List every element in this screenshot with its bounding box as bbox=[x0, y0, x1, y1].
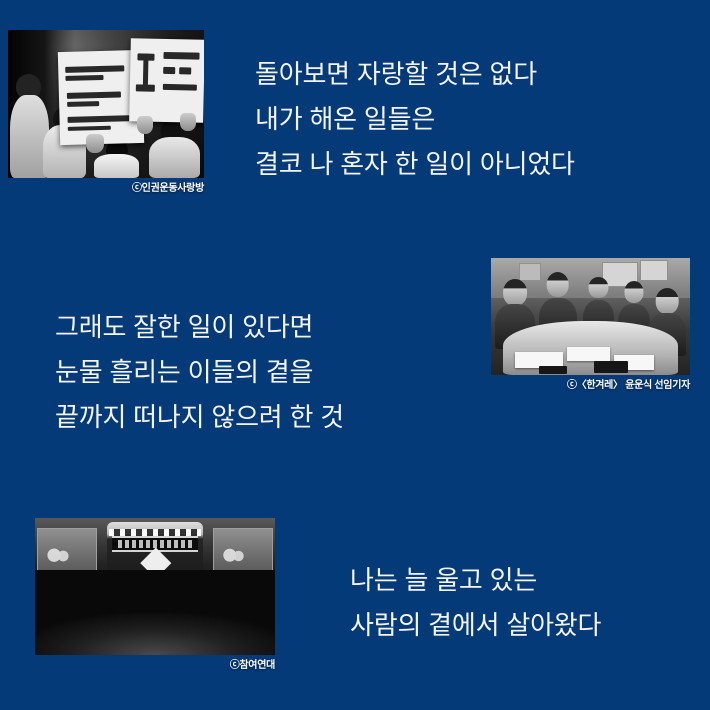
poem-line: 나는 늘 울고 있는 bbox=[350, 558, 601, 603]
table-paper bbox=[567, 347, 611, 361]
photo-block-group: ⓒ참여연대 bbox=[35, 518, 275, 655]
hand bbox=[86, 134, 104, 153]
photo-credit-group: ⓒ참여연대 bbox=[230, 656, 275, 671]
placard-right bbox=[129, 38, 204, 122]
photo-credit-meeting: ⓒ〈한겨레〉 윤운식 선임기자 bbox=[567, 376, 690, 391]
poem-line: 돌아보면 자랑할 것은 없다 bbox=[255, 52, 575, 97]
poem-line: 결코 나 혼자 한 일이 아니었다 bbox=[255, 142, 575, 187]
poem-stanza-3: 나는 늘 울고 있는 사람의 곁에서 살아왔다 bbox=[350, 558, 601, 648]
poem-line: 내가 해온 일들은 bbox=[255, 97, 575, 142]
poem-line: 눈물 흘리는 이들의 곁을 bbox=[55, 350, 344, 395]
photo-block-protest: ⓒ인권운동사랑방 bbox=[8, 30, 204, 178]
poem-card: ⓒ인권운동사랑방 bbox=[0, 0, 710, 710]
poem-line: 그래도 잘한 일이 있다면 bbox=[55, 305, 344, 350]
hand bbox=[137, 116, 153, 134]
wall-poster bbox=[640, 260, 668, 281]
photo-block-meeting: ⓒ〈한겨레〉 윤운식 선임기자 bbox=[491, 258, 690, 375]
photo-protest-scene bbox=[8, 30, 204, 178]
photo-meeting-scene bbox=[491, 258, 690, 375]
crowd-body bbox=[149, 137, 200, 178]
poem-stanza-1: 돌아보면 자랑할 것은 없다 내가 해온 일들은 결코 나 혼자 한 일이 아니… bbox=[255, 52, 575, 187]
poem-line: 사람의 곁에서 살아왔다 bbox=[350, 603, 601, 648]
hand bbox=[180, 113, 196, 131]
crowd-body bbox=[94, 154, 139, 178]
photo-group bbox=[35, 518, 275, 655]
stage-screen-right bbox=[213, 528, 273, 575]
photo-credit-protest: ⓒ인권운동사랑방 bbox=[132, 179, 204, 194]
photo-meeting bbox=[491, 258, 690, 375]
stage-screen-left bbox=[37, 528, 97, 575]
table-book bbox=[594, 361, 628, 373]
group-crowd bbox=[35, 570, 275, 655]
photo-protest bbox=[8, 30, 204, 178]
table-book bbox=[539, 366, 567, 374]
poem-stanza-2: 그래도 잘한 일이 있다면 눈물 흘리는 이들의 곁을 끝까지 떠나지 않으려 … bbox=[55, 305, 344, 440]
poem-line: 끝까지 떠나지 않으려 한 것 bbox=[55, 395, 344, 440]
photo-group-scene bbox=[35, 518, 275, 655]
stage-lights bbox=[109, 529, 200, 536]
